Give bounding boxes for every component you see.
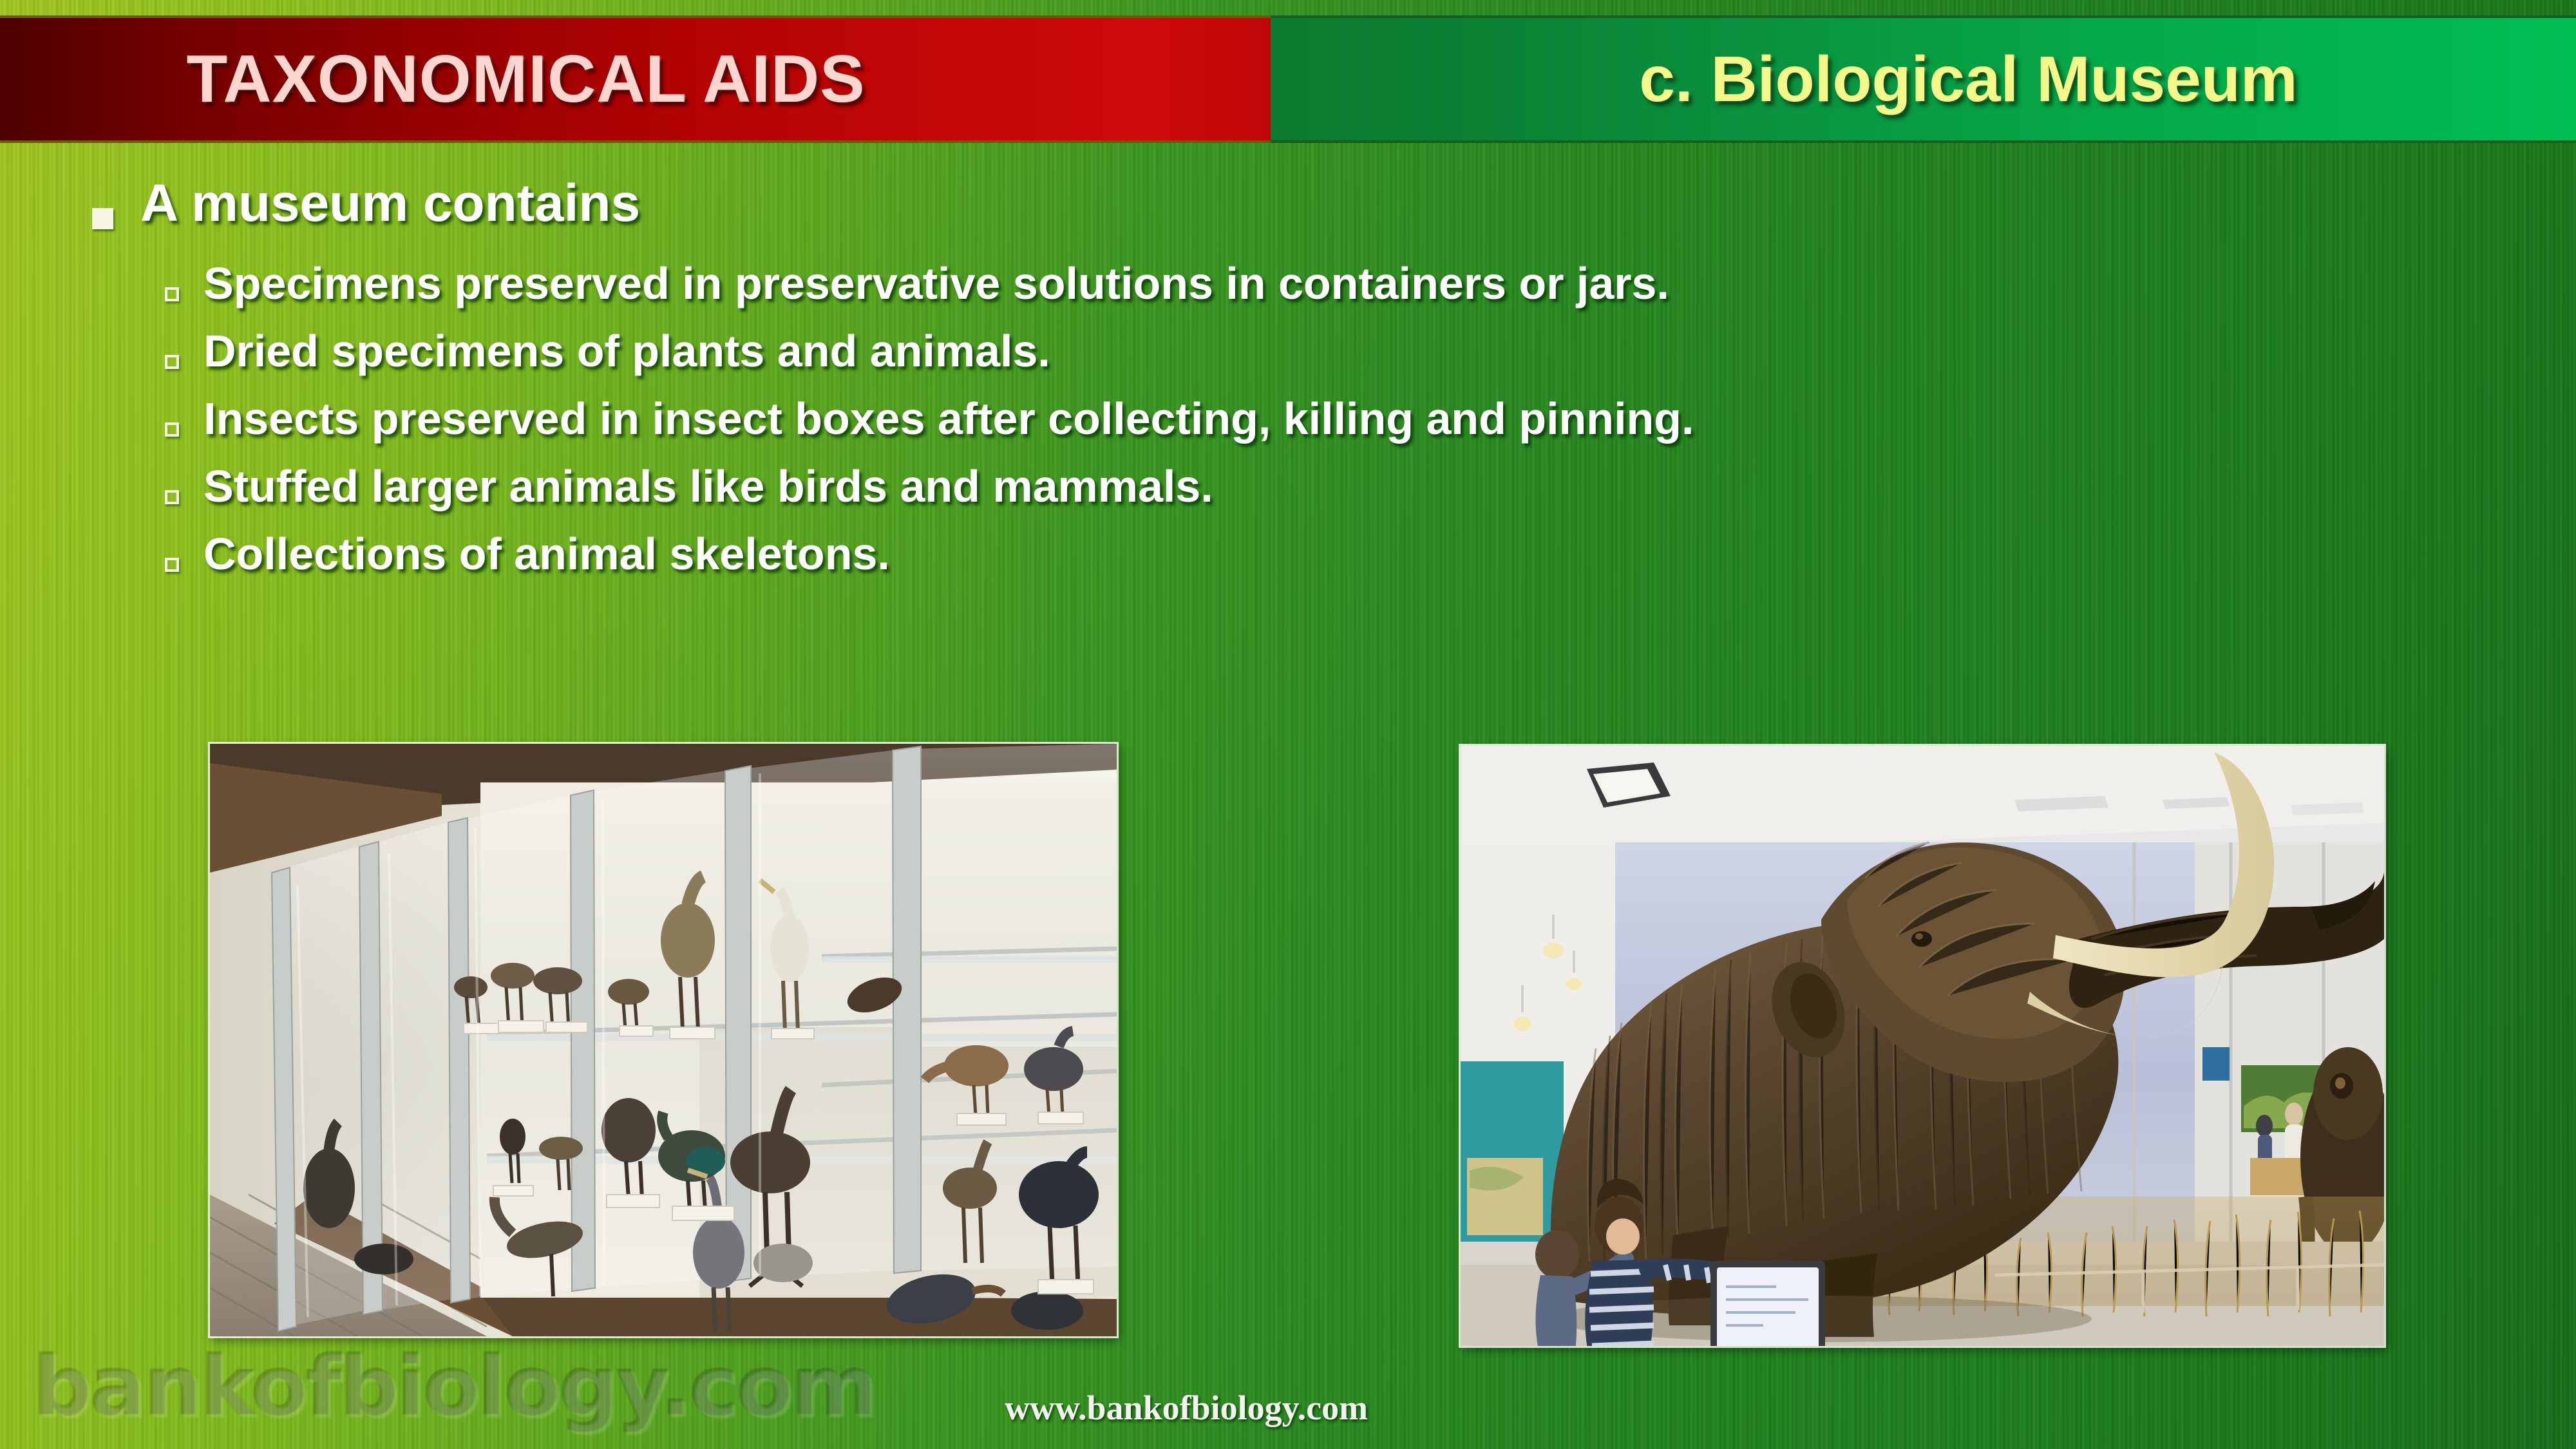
woolly-mammoth-exhibit-photo: [1461, 746, 2384, 1346]
hollow-square-bullet-icon: [165, 490, 179, 504]
exhibit-label-sign: [1710, 1261, 1825, 1346]
mammoth-exhibit-illustration: [1461, 746, 2384, 1346]
hollow-square-bullet-icon: [165, 558, 179, 572]
footer-website-url: www.bankofbiology.com: [1005, 1388, 1368, 1428]
bullet-item-level2: Insects preserved in insect boxes after …: [0, 392, 2576, 446]
bullet-item-level2: Stuffed larger animals like birds and ma…: [0, 459, 2576, 513]
presentation-slide: TAXONOMICAL AIDS c. Biological Museum A …: [0, 0, 2576, 1449]
bullet-text: Specimens preserved in preservative solu…: [204, 256, 1669, 310]
slide-subtopic-title: c. Biological Museum: [1639, 43, 2297, 117]
bullet-item-level2: Specimens preserved in preservative solu…: [0, 256, 2576, 310]
bird-specimen-display-cases-photo: [210, 744, 1117, 1336]
bullet-item-level2: Collections of animal skeletons.: [0, 527, 2576, 581]
header-banner-right: c. Biological Museum: [1271, 15, 2576, 143]
site-watermark: bankofbiology.com: [33, 1340, 876, 1435]
hollow-square-bullet-icon: [165, 422, 179, 437]
bullet-text: Collections of animal skeletons.: [204, 527, 890, 581]
bullet-text: Dried specimens of plants and animals.: [204, 324, 1050, 378]
filled-square-bullet-icon: [92, 208, 113, 229]
header-banner-left: TAXONOMICAL AIDS: [0, 15, 1271, 143]
bullet-text: A museum contains: [140, 173, 640, 235]
bullet-item-level2: Dried specimens of plants and animals.: [0, 324, 2576, 378]
bullet-item-level1: A museum contains: [0, 173, 2576, 235]
bullet-text: Stuffed larger animals like birds and ma…: [204, 459, 1213, 513]
hollow-square-bullet-icon: [165, 287, 179, 301]
bird-display-illustration: [210, 744, 1117, 1336]
hollow-square-bullet-icon: [165, 355, 179, 369]
slide-topic-title: TAXONOMICAL AIDS: [186, 41, 865, 118]
bullet-text: Insects preserved in insect boxes after …: [204, 392, 1694, 446]
slide-body-content: A museum contains Specimens preserved in…: [0, 173, 2576, 594]
